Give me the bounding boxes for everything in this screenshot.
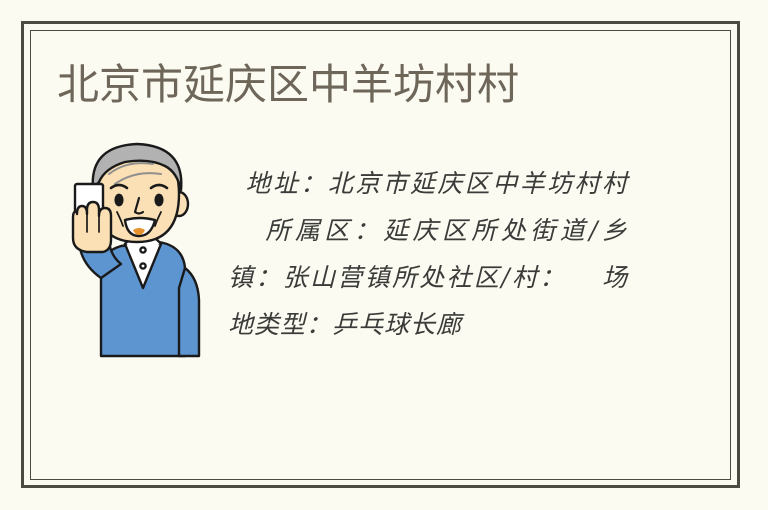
info-type-line: 地类型：乒乓球长廊 xyxy=(228,310,462,339)
info-address-line: 地址：北京市延庆区中羊坊 xyxy=(244,169,575,198)
info-address-wrap: 村村 xyxy=(575,169,628,198)
info-community-label: 所处社区/村： xyxy=(392,263,567,292)
info-community-value: 场 xyxy=(601,263,628,292)
elderly-man-on-phone-illustration xyxy=(55,138,205,358)
location-info-block: 地址：北京市延庆区中羊坊村村所属区：延庆区所处街道/乡镇：张山营镇所处社区/村：… xyxy=(228,160,628,348)
info-district-line: 所属区：延庆区 xyxy=(262,216,471,245)
page-title: 北京市延庆区中羊坊村村 xyxy=(57,59,519,111)
